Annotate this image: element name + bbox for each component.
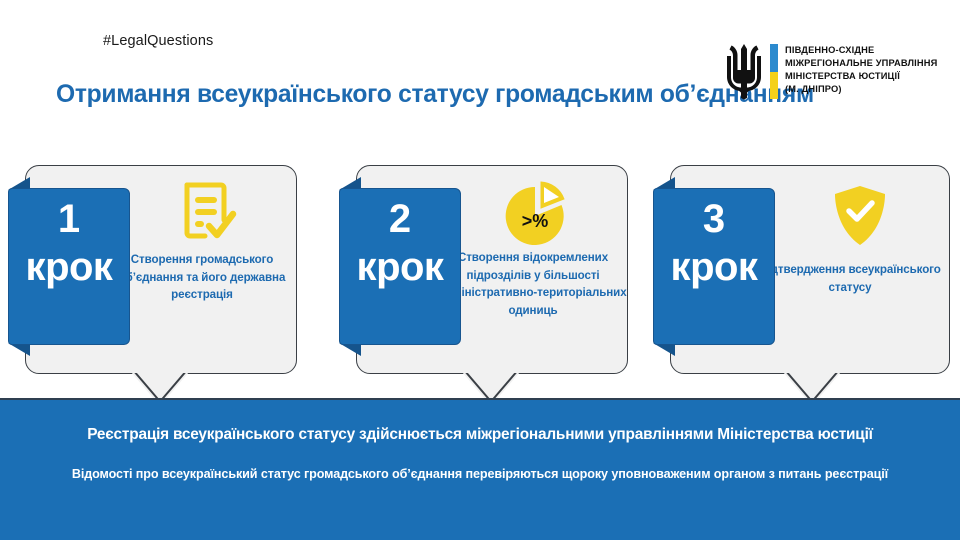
step-1-number-tab: 1 крок: [8, 188, 130, 345]
pie-chart-percent-icon: >%: [473, 175, 603, 249]
step-1-word: крок: [9, 247, 129, 287]
step-3-description: Підтвердження всеукраїнського статусу: [745, 261, 955, 296]
step-3-number-tab: 3 крок: [653, 188, 775, 345]
step-3-word: крок: [654, 247, 774, 287]
banner-subtext: Відомості про всеукраїнський статус гром…: [0, 464, 960, 485]
step-1-number: 1: [9, 199, 129, 239]
ministry-logo: ПІВДЕННО-СХІДНЕ МІЖРЕГІОНАЛЬНЕ УПРАВЛІНН…: [722, 42, 950, 104]
bottom-banner: Реєстрація всеукраїнського статусу здійс…: [0, 398, 960, 540]
document-checklist-icon: [142, 177, 272, 249]
svg-text:>%: >%: [522, 211, 549, 231]
logo-line-3: МІНІСТЕРСТВА ЮСТИЦІЇ: [785, 70, 937, 83]
page-title: Отримання всеукраїнського статусу громад…: [56, 80, 814, 109]
ukraine-flag-bar: [770, 44, 778, 99]
step-3-number: 3: [654, 199, 774, 239]
ukraine-trident-icon: [722, 42, 766, 100]
banner-headline: Реєстрація всеукраїнського статусу здійс…: [0, 426, 960, 444]
logo-line-1: ПІВДЕННО-СХІДНЕ: [785, 44, 937, 57]
ministry-logo-text: ПІВДЕННО-СХІДНЕ МІЖРЕГІОНАЛЬНЕ УПРАВЛІНН…: [785, 44, 937, 96]
logo-line-4: (М. ДНІПРО): [785, 83, 937, 96]
step-1-description: Створення громадського об’єднання та йог…: [102, 251, 302, 304]
step-2-number: 2: [340, 199, 460, 239]
hashtag-label: #LegalQuestions: [103, 33, 213, 49]
step-2-number-tab: 2 крок: [339, 188, 461, 345]
logo-line-2: МІЖРЕГІОНАЛЬНЕ УПРАВЛІННЯ: [785, 57, 937, 70]
step-2-word: крок: [340, 247, 460, 287]
shield-check-icon: [795, 177, 925, 257]
